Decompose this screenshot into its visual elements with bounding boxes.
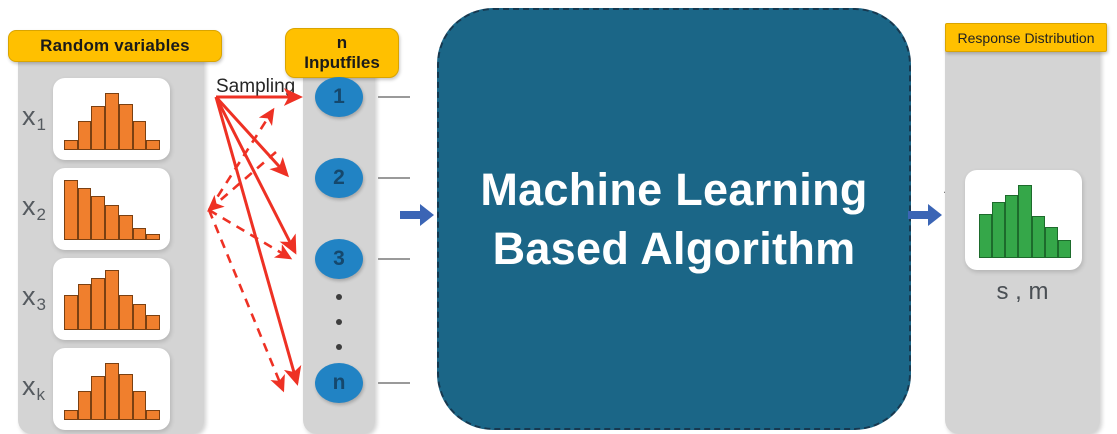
histogram-x2 bbox=[64, 178, 160, 240]
histogram-bar bbox=[119, 295, 133, 330]
algorithm-title-line1: Machine Learning bbox=[480, 160, 867, 219]
sampling-label: Sampling bbox=[216, 76, 295, 98]
histogram-bar bbox=[105, 270, 119, 330]
histogram-bar bbox=[91, 106, 105, 150]
histogram-baseline bbox=[64, 329, 160, 330]
histogram-bar bbox=[119, 374, 133, 420]
histogram-bar bbox=[1032, 216, 1045, 258]
inputfiles-header-line1: n bbox=[337, 33, 347, 53]
histogram-bar bbox=[1018, 185, 1031, 258]
ellipsis-dot-2 bbox=[336, 319, 342, 325]
inputfiles-header-line2: Inputfiles bbox=[304, 53, 380, 73]
histogram-response bbox=[979, 180, 1071, 258]
histogram-bar bbox=[105, 93, 119, 150]
ellipsis-dot-1 bbox=[336, 294, 342, 300]
response-distribution-header: Response Distribution bbox=[945, 23, 1107, 52]
inputfile-node-n[interactable]: n bbox=[315, 363, 363, 403]
histogram-bar bbox=[133, 304, 147, 330]
histogram-bar bbox=[78, 284, 92, 330]
inputfile-node-2[interactable]: 2 bbox=[315, 158, 363, 198]
histogram-bar bbox=[979, 214, 992, 258]
histogram-bar bbox=[91, 278, 105, 330]
histogram-bar bbox=[78, 188, 92, 240]
histogram-x1 bbox=[64, 88, 160, 150]
histogram-bar bbox=[133, 391, 147, 420]
histogram-bar bbox=[1045, 227, 1058, 258]
algorithm-title-line2: Based Algorithm bbox=[493, 219, 856, 278]
histogram-bar bbox=[119, 215, 133, 240]
inputfile-node-3[interactable]: 3 bbox=[315, 239, 363, 279]
histogram-x3 bbox=[64, 268, 160, 330]
histogram-bar bbox=[105, 363, 119, 420]
histogram-bar bbox=[992, 202, 1005, 258]
inputfile-stub-1 bbox=[378, 96, 410, 98]
histogram-baseline bbox=[64, 239, 160, 240]
histogram-baseline bbox=[64, 419, 160, 420]
variable-label-xk: xk bbox=[22, 371, 44, 402]
histogram-bar bbox=[78, 121, 92, 150]
inputfile-stub-n bbox=[378, 382, 410, 384]
histogram-bar bbox=[119, 104, 133, 150]
histogram-baseline bbox=[979, 257, 1071, 258]
variable-label-x1: x1 bbox=[22, 101, 45, 132]
histogram-bar bbox=[133, 121, 147, 150]
histogram-bar bbox=[91, 376, 105, 420]
variable-label-x3: x3 bbox=[22, 281, 45, 312]
inputfile-node-1[interactable]: 1 bbox=[315, 77, 363, 117]
histogram-xk bbox=[64, 358, 160, 420]
histogram-baseline bbox=[64, 149, 160, 150]
histogram-bar bbox=[105, 205, 119, 240]
histogram-bar bbox=[1005, 195, 1018, 258]
inputfile-stub-2 bbox=[378, 177, 410, 179]
histogram-bar bbox=[64, 295, 78, 330]
histogram-bar bbox=[146, 315, 160, 330]
histogram-bar bbox=[78, 391, 92, 420]
inputfiles-header: n Inputfiles bbox=[285, 28, 399, 78]
histogram-bar bbox=[64, 180, 78, 240]
ellipsis-dot-3 bbox=[336, 344, 342, 350]
histogram-bar bbox=[1058, 240, 1071, 258]
inputfiles-to-algorithm-arrow bbox=[400, 200, 442, 232]
variable-label-x2: x2 bbox=[22, 191, 45, 222]
diagram-canvas: Random variables x1 x2 x3 xk Sampling bbox=[0, 0, 1117, 434]
algorithm-to-response-arrow bbox=[908, 200, 950, 232]
algorithm-box[interactable]: Machine Learning Based Algorithm bbox=[437, 8, 911, 430]
histogram-bar bbox=[91, 196, 105, 240]
response-stats-label: s , m bbox=[945, 278, 1100, 306]
inputfile-stub-3 bbox=[378, 258, 410, 260]
random-variables-header: Random variables bbox=[8, 30, 222, 62]
